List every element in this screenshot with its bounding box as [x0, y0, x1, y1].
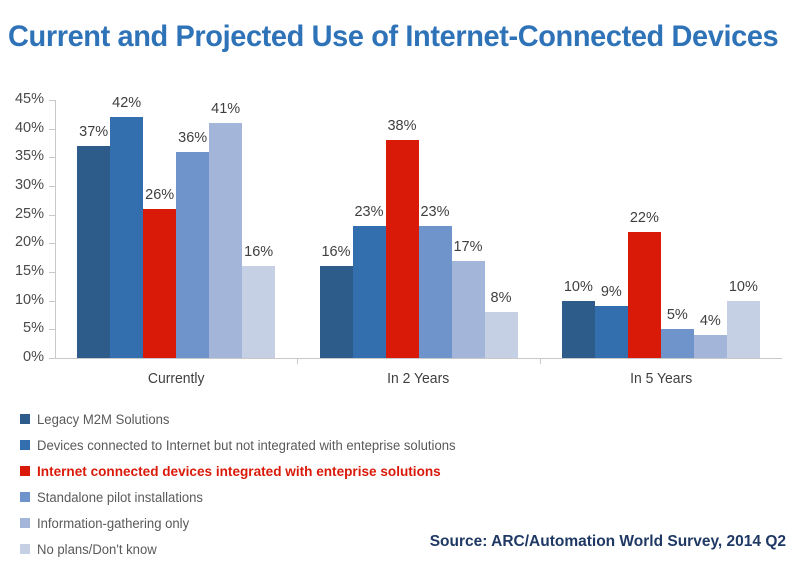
bar — [386, 140, 419, 358]
x-axis-line — [55, 358, 782, 359]
legend-item-label: Information-gathering only — [37, 516, 189, 531]
bar — [77, 146, 110, 358]
bar — [353, 226, 386, 358]
bar-value-label: 8% — [475, 290, 528, 306]
bar — [143, 209, 176, 358]
source-note: Source: ARC/Automation World Survey, 201… — [430, 533, 786, 551]
legend-item-label: Internet connected devices integrated wi… — [37, 463, 441, 479]
legend-swatch-icon — [20, 466, 30, 476]
legend-item[interactable]: Legacy M2M Solutions — [20, 406, 540, 432]
bar — [485, 312, 518, 358]
legend-swatch-icon — [20, 414, 30, 424]
bar — [452, 261, 485, 358]
legend-item-label: Standalone pilot installations — [37, 490, 203, 505]
legend-swatch-icon — [20, 440, 30, 450]
bar — [628, 232, 661, 358]
page-title: Current and Projected Use of Internet-Co… — [8, 20, 765, 54]
bar-value-label: 10% — [717, 279, 770, 295]
bar — [562, 301, 595, 358]
bar-value-label: 16% — [232, 244, 285, 260]
bar — [110, 117, 143, 358]
legend-item[interactable]: Internet connected devices integrated wi… — [20, 458, 540, 484]
x-axis-separator — [297, 358, 298, 364]
x-axis-separator — [540, 358, 541, 364]
bar — [595, 306, 628, 358]
x-axis-category-label: In 5 Years — [548, 370, 773, 387]
bar — [661, 329, 694, 358]
bar-value-label: 41% — [199, 101, 252, 117]
bar — [727, 301, 760, 358]
bar — [242, 266, 275, 358]
legend-swatch-icon — [20, 544, 30, 554]
bar-value-label: 17% — [442, 239, 495, 255]
bar — [209, 123, 242, 358]
legend-item-label: No plans/Don't know — [37, 542, 157, 557]
x-axis-category-label: In 2 Years — [306, 370, 531, 387]
legend-item[interactable]: Devices connected to Internet but not in… — [20, 432, 540, 458]
bar-value-label: 22% — [618, 210, 671, 226]
bar — [694, 335, 727, 358]
legend-item[interactable]: Standalone pilot installations — [20, 484, 540, 510]
bar-value-label: 23% — [409, 204, 462, 220]
bar — [320, 266, 353, 358]
bar — [176, 152, 209, 358]
legend-swatch-icon — [20, 492, 30, 502]
x-axis-category-label: Currently — [63, 370, 288, 387]
bar-value-label: 38% — [376, 118, 429, 134]
y-axis-tick — [49, 358, 55, 359]
legend-item-label: Devices connected to Internet but not in… — [37, 438, 456, 453]
legend-swatch-icon — [20, 518, 30, 528]
chart-plot-area: 0%5%10%15%20%25%30%35%40%45% 37%42%26%36… — [0, 88, 800, 363]
legend-item-label: Legacy M2M Solutions — [37, 412, 169, 427]
bar-value-label: 42% — [100, 95, 153, 111]
bars-layer: 37%42%26%36%41%16%16%23%38%23%17%8%10%9%… — [0, 88, 800, 358]
